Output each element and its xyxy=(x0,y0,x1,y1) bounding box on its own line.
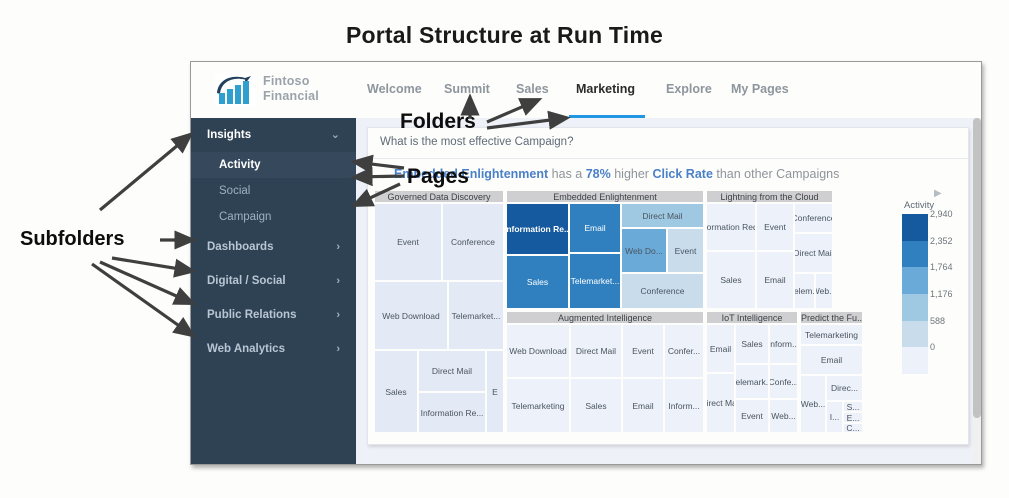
chevron-right-icon[interactable]: › xyxy=(336,230,340,264)
treemap-cell[interactable]: Confer... xyxy=(664,324,704,378)
nav-item-welcome[interactable]: Welcome xyxy=(367,82,422,96)
treemap-chart: Governed Data DiscoveryEventConferenceWe… xyxy=(374,190,889,435)
treemap-cell[interactable]: Telemarketing xyxy=(506,378,570,433)
portal-window: Fintoso Financial WelcomeSummitSalesMark… xyxy=(190,61,982,465)
arrow-subfolders-web xyxy=(92,264,192,335)
card-divider xyxy=(368,158,968,159)
treemap-cell[interactable]: E xyxy=(486,350,504,433)
legend-swatch[interactable] xyxy=(902,267,928,294)
treemap-cell[interactable]: Web... xyxy=(800,375,826,433)
chevron-down-icon[interactable]: ⌄ xyxy=(331,118,340,152)
fintoso-bar-chart-logo xyxy=(215,73,255,107)
chevron-right-icon[interactable]: › xyxy=(336,298,340,332)
treemap-group: IoT IntelligenceEmailDirect MailSalesInf… xyxy=(706,311,798,433)
sidebar-folder-public-relations[interactable]: Public Relations› xyxy=(191,298,356,332)
legend-tick: 588 xyxy=(930,316,945,326)
treemap-cell[interactable]: Email xyxy=(706,324,735,373)
legend-color-bar xyxy=(902,214,928,374)
sidebar-folder-insights[interactable]: Insights⌄ xyxy=(191,118,356,152)
nav-item-my-pages[interactable]: My Pages xyxy=(731,82,789,96)
sidebar-folder-label: Digital / Social xyxy=(207,264,286,298)
brand-line-2: Financial xyxy=(263,89,319,104)
treemap-cell[interactable]: I... xyxy=(826,401,843,433)
treemap-cell[interactable]: Web Download xyxy=(374,281,448,350)
treemap-cell[interactable]: S... xyxy=(843,401,863,412)
treemap-cell[interactable]: Direct Mail xyxy=(621,203,704,228)
legend-swatch[interactable] xyxy=(902,347,928,374)
treemap-cell[interactable]: Event xyxy=(374,203,442,281)
treemap-cell[interactable]: Telemark... xyxy=(735,364,769,399)
arrow-subfolders-pr xyxy=(100,262,192,303)
arrow-subfolders-digital xyxy=(112,258,192,271)
treemap-group: Governed Data DiscoveryEventConferenceWe… xyxy=(374,190,504,433)
annotation-folders: Folders xyxy=(400,110,476,134)
treemap-cell[interactable]: Direct Mail xyxy=(570,324,622,378)
sidebar-folder-label: Dashboards xyxy=(207,230,273,264)
treemap-cell[interactable]: Telemarketing xyxy=(800,324,863,345)
treemap-cell[interactable]: Web Download xyxy=(506,324,570,378)
sidebar: Insights⌄ActivitySocialCampaignDashboard… xyxy=(191,118,356,464)
treemap-group-header[interactable]: IoT Intelligence xyxy=(706,311,798,324)
chevron-right-icon[interactable]: › xyxy=(336,264,340,298)
nav-item-explore[interactable]: Explore xyxy=(666,82,712,96)
treemap-cell[interactable]: Inform... xyxy=(664,378,704,433)
treemap-group-header[interactable]: Lightning from the Cloud xyxy=(706,190,833,203)
treemap-group-header[interactable]: Embedded Enlightenment xyxy=(506,190,704,203)
treemap-cell[interactable]: Conference xyxy=(442,203,504,281)
treemap-cell[interactable]: Telem... xyxy=(794,273,815,309)
treemap-legend: ▶ Activity 2,9402,3521,7641,1765880 xyxy=(898,186,964,386)
treemap-group: Embedded EnlightenmentInformation Re...S… xyxy=(506,190,704,309)
treemap-cell[interactable]: Sales xyxy=(570,378,622,433)
sidebar-page-campaign[interactable]: Campaign xyxy=(191,204,356,230)
page-title: Portal Structure at Run Time xyxy=(0,22,1009,49)
arrow-subfolders-insights xyxy=(100,135,190,210)
treemap-cell[interactable]: Sales xyxy=(735,324,769,364)
treemap-cell[interactable]: Telemarket... xyxy=(448,281,504,350)
brand-line-1: Fintoso xyxy=(263,74,319,89)
treemap-cell[interactable]: Information Re... xyxy=(418,392,486,433)
nav-item-marketing[interactable]: Marketing xyxy=(576,82,635,96)
sidebar-folder-label: Insights xyxy=(207,118,251,152)
treemap-cell[interactable]: E... xyxy=(843,412,863,423)
brand-text: Fintoso Financial xyxy=(263,74,319,103)
treemap-group: Lightning from the CloudInformation Req.… xyxy=(706,190,833,309)
treemap-cell[interactable]: Event xyxy=(622,324,664,378)
treemap-cell[interactable]: Web Do... xyxy=(621,228,667,273)
play-caret-icon[interactable]: ▶ xyxy=(934,188,942,199)
treemap-cell[interactable]: Direc... xyxy=(826,375,863,401)
legend-tick: 0 xyxy=(930,342,935,352)
treemap-cell[interactable]: Confe... xyxy=(769,364,798,399)
treemap-group-header[interactable]: Augmented Intelligence xyxy=(506,311,704,324)
treemap-cell[interactable]: Direct Mail xyxy=(794,233,833,273)
treemap-cell[interactable]: Email xyxy=(800,345,863,375)
sidebar-page-social[interactable]: Social xyxy=(191,178,356,204)
treemap-cell[interactable]: Email xyxy=(569,203,621,253)
sidebar-folder-web-analytics[interactable]: Web Analytics› xyxy=(191,332,356,366)
treemap-cell[interactable]: Event xyxy=(756,203,794,251)
treemap-cell[interactable]: Telemarket... xyxy=(569,253,621,309)
treemap-cell[interactable]: C... xyxy=(843,423,863,433)
headline-part-5: than other Campaigns xyxy=(713,167,839,181)
headline-part-4: Click Rate xyxy=(652,167,712,181)
legend-tick: 2,940 xyxy=(930,209,953,219)
legend-swatch[interactable] xyxy=(902,294,928,321)
treemap-cell[interactable]: Web... xyxy=(815,273,833,309)
treemap-group-header[interactable]: Predict the Fu... xyxy=(800,311,863,324)
treemap-group-header[interactable]: Governed Data Discovery xyxy=(374,190,504,203)
card-headline: Embedded Enlightenment has a 78% higher … xyxy=(394,167,954,181)
treemap-group: Predict the Fu...TelemarketingEmailWeb..… xyxy=(800,311,863,433)
annotation-pages: Pages xyxy=(407,165,469,189)
legend-swatch[interactable] xyxy=(902,321,928,348)
treemap-cell[interactable]: Email xyxy=(622,378,664,433)
treemap-cell[interactable]: Conference xyxy=(621,273,704,309)
treemap-cell[interactable]: Event xyxy=(735,399,769,433)
sidebar-folder-digital-social[interactable]: Digital / Social› xyxy=(191,264,356,298)
treemap-cell[interactable]: Sales xyxy=(374,350,418,433)
treemap-cell[interactable]: Information Req... xyxy=(706,203,756,251)
legend-swatch[interactable] xyxy=(902,214,928,241)
legend-swatch[interactable] xyxy=(902,241,928,268)
treemap-cell[interactable]: Direct Mail xyxy=(418,350,486,392)
sidebar-folder-dashboards[interactable]: Dashboards› xyxy=(191,230,356,264)
treemap-cell[interactable]: Web... xyxy=(769,399,798,433)
card-question: What is the most effective Campaign? xyxy=(380,136,573,148)
sidebar-page-activity[interactable]: Activity xyxy=(191,152,356,178)
annotation-subfolders: Subfolders xyxy=(20,228,124,251)
treemap-cell[interactable]: Conference xyxy=(794,203,833,233)
sidebar-folder-label: Web Analytics xyxy=(207,332,285,366)
sidebar-folder-label: Public Relations xyxy=(207,298,296,332)
treemap-cell[interactable]: Inform... xyxy=(769,324,798,364)
legend-tick: 1,764 xyxy=(930,262,953,272)
nav-item-summit[interactable]: Summit xyxy=(444,82,490,96)
portal-top-bar: Fintoso Financial WelcomeSummitSalesMark… xyxy=(191,62,981,119)
legend-tick: 2,352 xyxy=(930,236,953,246)
content-scrollbar-thumb[interactable] xyxy=(973,118,981,418)
treemap-cell[interactable]: Sales xyxy=(706,251,756,309)
treemap-cell[interactable]: Email xyxy=(756,251,794,309)
treemap-cell[interactable]: Information Re... xyxy=(506,203,569,255)
treemap-cell[interactable]: Direct Mail xyxy=(706,373,735,433)
treemap-cell[interactable]: Sales xyxy=(506,255,569,309)
brand[interactable]: Fintoso Financial xyxy=(215,71,335,111)
treemap-cell[interactable]: Event xyxy=(667,228,704,273)
nav-item-sales[interactable]: Sales xyxy=(516,82,549,96)
chevron-right-icon[interactable]: › xyxy=(336,332,340,366)
headline-part-1: has a xyxy=(548,167,586,181)
treemap-group: Augmented IntelligenceWeb DownloadDirect… xyxy=(506,311,704,433)
headline-part-2: 78% xyxy=(586,167,611,181)
headline-part-3: higher xyxy=(611,167,653,181)
legend-tick: 1,176 xyxy=(930,289,953,299)
